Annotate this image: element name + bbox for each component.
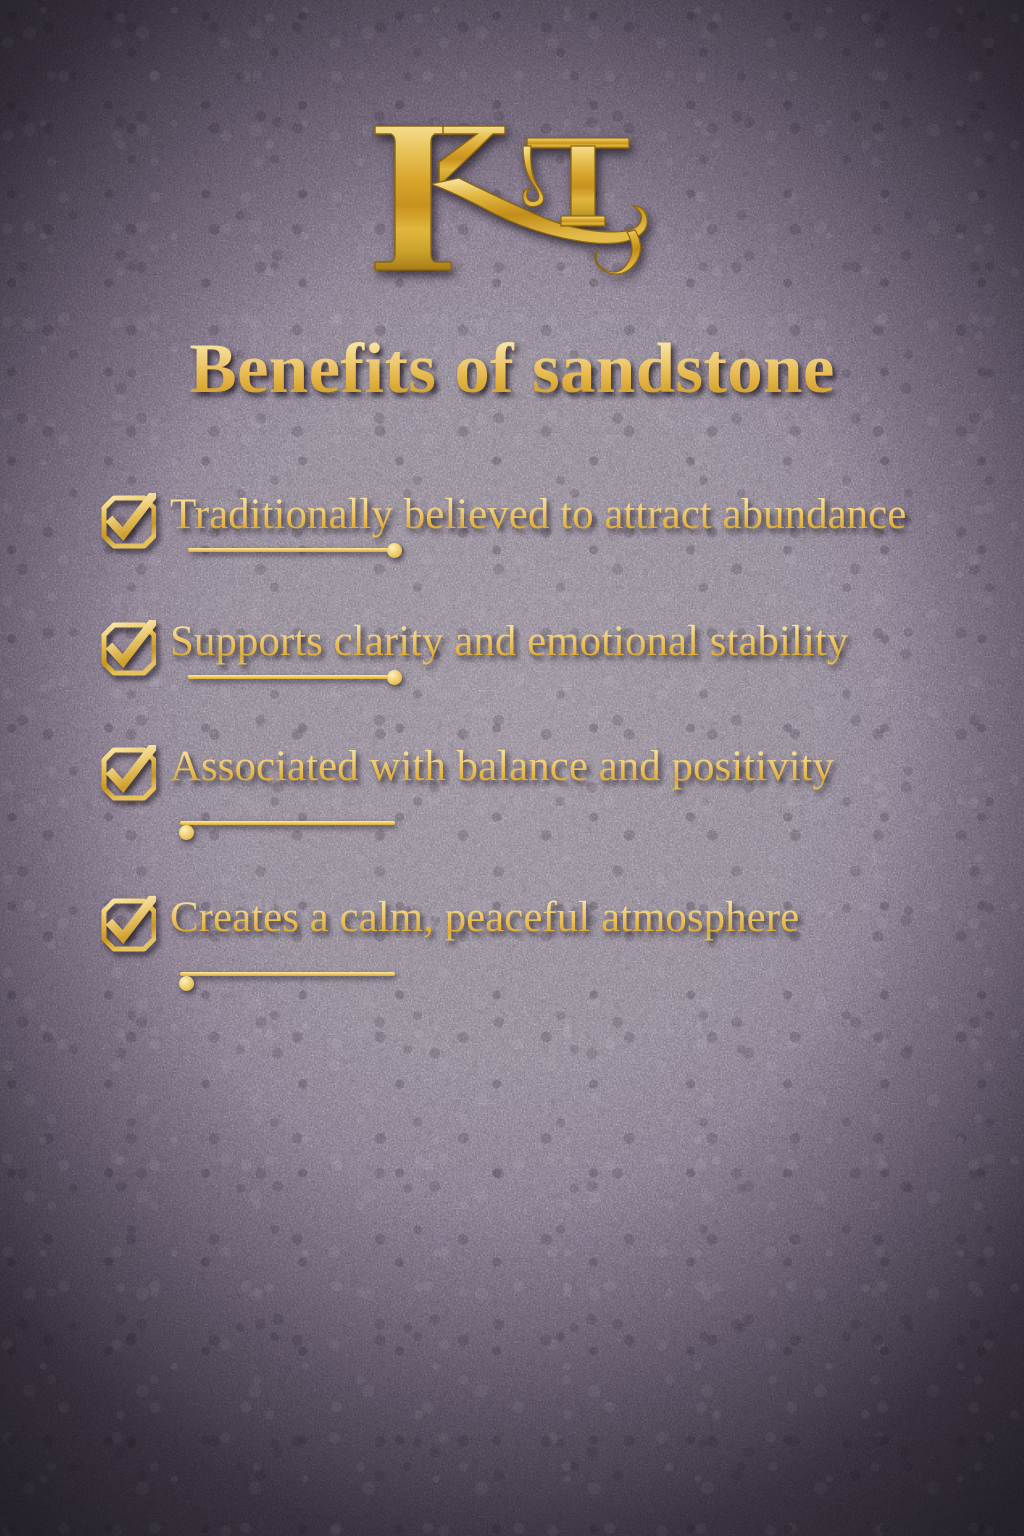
gold-rule-with-dot: [188, 543, 402, 558]
rule-dot: [387, 543, 402, 558]
gold-rule-with-dot: [180, 972, 984, 991]
rule-line: [188, 675, 388, 679]
octagon-checkbox-checked-icon[interactable]: [98, 745, 156, 807]
rule-dot: [179, 976, 194, 991]
octagon-checkbox-checked-icon[interactable]: [98, 493, 156, 555]
list-item-body: Creates a calm, peaceful atmosphere: [170, 890, 984, 946]
benefits-list: Traditionally believed to attract abunda…: [98, 487, 984, 1001]
kj-monogram-logo: [347, 112, 677, 287]
poster-page: Benefits of sandstone: [0, 0, 1024, 1536]
list-item-label: Traditionally believed to attract abunda…: [170, 491, 906, 538]
page-title: Benefits of sandstone: [0, 332, 1024, 407]
gold-rule-with-dot: [188, 670, 402, 685]
rule-line: [188, 548, 388, 552]
list-item-label: Associated with balance and positivity: [170, 743, 834, 790]
octagon-checkbox-checked-icon[interactable]: [98, 620, 156, 682]
list-item[interactable]: Traditionally believed to attract abunda…: [98, 487, 984, 568]
rule-line: [180, 821, 395, 825]
brand-logo: [0, 104, 1024, 294]
rule-dot: [387, 670, 402, 685]
list-gap: [98, 695, 984, 739]
rule-dot: [179, 825, 194, 840]
list-item[interactable]: Supports clarity and emotional stability: [98, 614, 984, 695]
list-item-body: Traditionally believed to attract abunda…: [170, 487, 984, 568]
list-item-label: Supports clarity and emotional stability: [170, 618, 848, 665]
list-gap: [98, 568, 984, 614]
octagon-checkbox-checked-icon[interactable]: [98, 896, 156, 958]
list-item[interactable]: Creates a calm, peaceful atmosphere: [98, 890, 984, 958]
list-item-label: Creates a calm, peaceful atmosphere: [170, 894, 799, 941]
rule-line: [180, 972, 395, 976]
list-item[interactable]: Associated with balance and positivity: [98, 739, 984, 807]
list-item-body: Associated with balance and positivity: [170, 739, 984, 795]
list-gap: [98, 850, 984, 890]
gold-rule-with-dot: [180, 821, 984, 840]
list-item-body: Supports clarity and emotional stability: [170, 614, 984, 695]
